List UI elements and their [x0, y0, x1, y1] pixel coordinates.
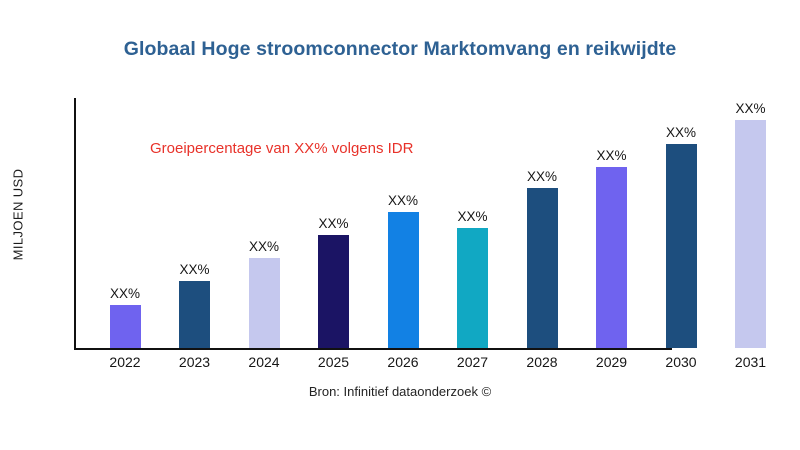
bar-2022[interactable]: [110, 305, 141, 348]
bar-value-label: XX%: [439, 209, 507, 224]
x-axis-tick-2031: 2031: [717, 354, 785, 370]
bar-2026[interactable]: [388, 212, 419, 348]
bar-2030[interactable]: [666, 144, 697, 348]
bar-value-label: XX%: [508, 169, 576, 184]
bar-value-label: XX%: [230, 239, 298, 254]
growth-rate-annotation: Groeipercentage van XX% volgens IDR: [150, 140, 413, 157]
x-axis-tick-2029: 2029: [578, 354, 646, 370]
bar-group[interactable]: XX%: [369, 212, 437, 348]
bar-value-label: XX%: [91, 286, 159, 301]
bar-value-label: XX%: [578, 148, 646, 163]
x-axis-tick-2030: 2030: [647, 354, 715, 370]
x-axis-tick-2022: 2022: [91, 354, 159, 370]
bar-value-label: XX%: [647, 125, 715, 140]
bar-group[interactable]: XX%: [161, 281, 229, 348]
bar-2031[interactable]: [735, 120, 766, 348]
bar-value-label: XX%: [300, 216, 368, 231]
bar-group[interactable]: XX%: [91, 305, 159, 348]
chart-title: Globaal Hoge stroomconnector Marktomvang…: [0, 38, 800, 61]
x-axis-tick-2024: 2024: [230, 354, 298, 370]
source-note: Bron: Infinitief dataonderzoek ©: [0, 384, 800, 399]
bar-2023[interactable]: [179, 281, 210, 348]
x-axis-tick-2028: 2028: [508, 354, 576, 370]
x-axis-tick-2023: 2023: [161, 354, 229, 370]
bar-2025[interactable]: [318, 235, 349, 348]
plot-area: Groeipercentage van XX% volgens IDR XX%X…: [74, 98, 786, 350]
y-axis-line: [74, 98, 76, 350]
bar-group[interactable]: XX%: [439, 228, 507, 348]
bar-2027[interactable]: [457, 228, 488, 348]
bar-chart: Globaal Hoge stroomconnector Marktomvang…: [0, 0, 800, 450]
x-axis-line: [74, 348, 672, 350]
bar-2029[interactable]: [596, 167, 627, 348]
x-axis-tick-2025: 2025: [300, 354, 368, 370]
bar-group[interactable]: XX%: [578, 167, 646, 348]
bar-2028[interactable]: [527, 188, 558, 348]
bar-group[interactable]: XX%: [508, 188, 576, 348]
bar-2024[interactable]: [249, 258, 280, 348]
bar-group[interactable]: XX%: [300, 235, 368, 348]
x-axis-tick-2027: 2027: [439, 354, 507, 370]
bar-group[interactable]: XX%: [230, 258, 298, 348]
x-axis-tick-2026: 2026: [369, 354, 437, 370]
bar-group[interactable]: XX%: [717, 120, 785, 348]
bar-group[interactable]: XX%: [647, 144, 715, 348]
bar-value-label: XX%: [369, 193, 437, 208]
y-axis-label: MILJOEN USD: [11, 120, 26, 310]
bar-value-label: XX%: [161, 262, 229, 277]
bar-value-label: XX%: [717, 101, 785, 116]
